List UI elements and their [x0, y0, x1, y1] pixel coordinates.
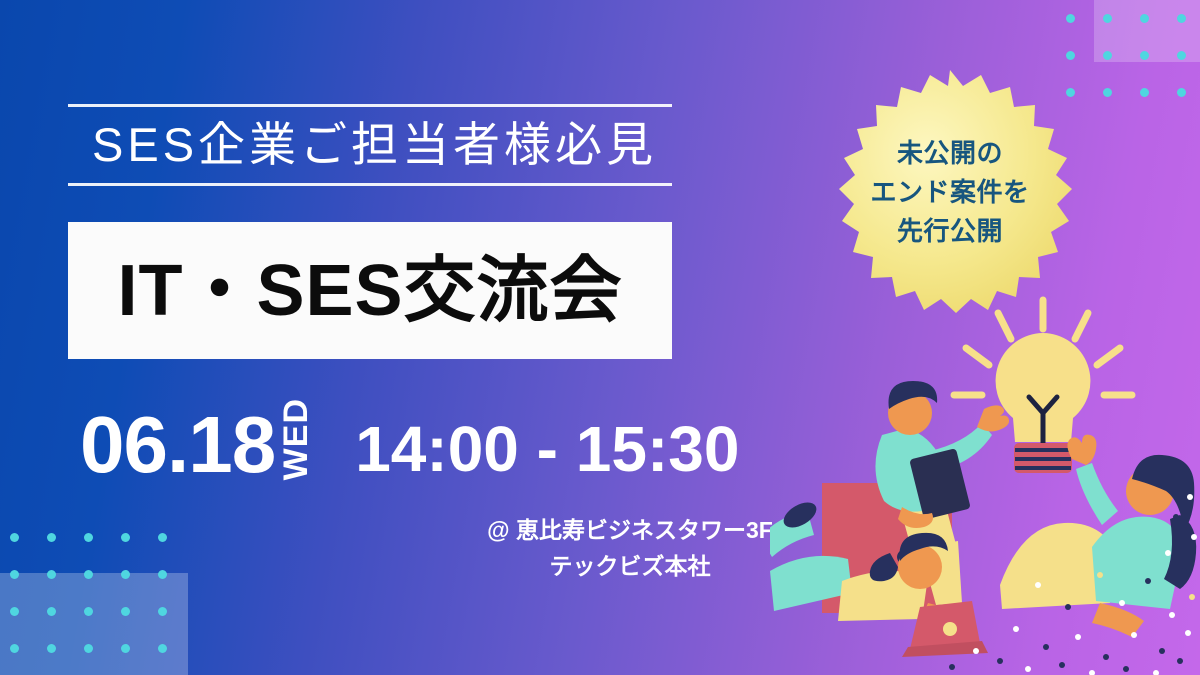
event-time: 14:00 - 15:30 — [355, 416, 739, 482]
main-content-column: SES企業ご担当者様必見 IT・SES交流会 06.18 WED 14:00 -… — [68, 0, 828, 675]
divider-above-kicker — [68, 104, 672, 107]
venue-block: @ 恵比寿ビジネスタワー3F テックビズ本社 — [440, 512, 820, 584]
starburst-badge: 未公開の エンド案件を 先行公開 — [826, 68, 1074, 316]
badge-text-block: 未公開の エンド案件を 先行公開 — [826, 68, 1074, 316]
title-box: IT・SES交流会 — [68, 222, 672, 359]
event-title: IT・SES交流会 — [117, 255, 622, 327]
badge-line-1: 未公開の — [897, 134, 1003, 173]
event-banner: SES企業ご担当者様必見 IT・SES交流会 06.18 WED 14:00 -… — [0, 0, 1200, 675]
venue-line-1: @ 恵比寿ビジネスタワー3F — [440, 512, 820, 548]
day-of-week-wrapper: WED — [279, 396, 313, 482]
dot-grid-top-right — [1066, 14, 1186, 97]
badge-line-3: 先行公開 — [897, 212, 1003, 251]
divider-below-kicker — [68, 183, 672, 186]
date-time-row: 06.18 WED 14:00 - 15:30 — [80, 396, 739, 484]
people-illustration — [770, 285, 1200, 675]
kicker-text: SES企業ご担当者様必見 — [92, 112, 657, 178]
badge-line-2: エンド案件を — [870, 173, 1029, 212]
event-date: 06.18 — [80, 406, 275, 484]
venue-line-2: テックビズ本社 — [440, 548, 820, 584]
event-day-of-week: WED — [279, 398, 313, 480]
